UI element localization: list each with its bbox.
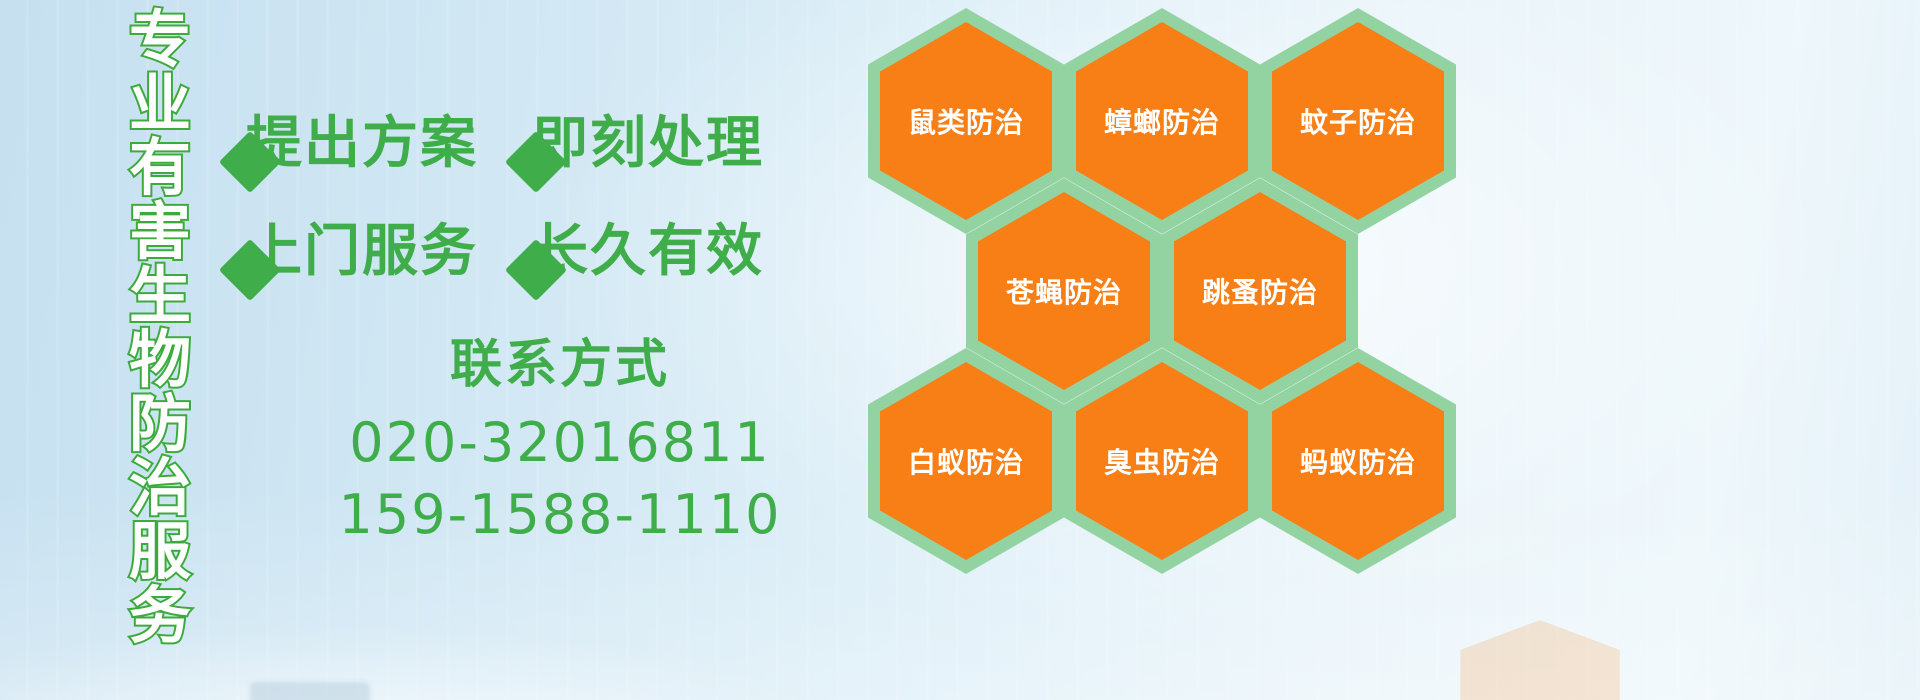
contact-phone-landline[interactable]: 020-32016811 bbox=[300, 407, 820, 479]
feature-label: 提出方案 bbox=[246, 98, 478, 179]
decorative-shape bbox=[250, 682, 370, 700]
service-hexagon-grid: 鼠类防治 蟑螂防治 蚊子防治 苍蝇防治 跳蚤防治 白蚁防治 bbox=[862, 2, 1462, 558]
hex-label: 跳蚤防治 bbox=[1202, 271, 1318, 311]
hex-label: 蚊子防治 bbox=[1300, 101, 1416, 141]
hex-label: 臭虫防治 bbox=[1104, 441, 1220, 481]
contact-phone-mobile[interactable]: 159-1588-1110 bbox=[300, 479, 820, 551]
hex-label: 苍蝇防治 bbox=[1006, 271, 1122, 311]
feature-label: 上门服务 bbox=[246, 206, 478, 287]
pest-control-banner: 专 业 有 害 生 物 防 治 服 务 提出方案 即刻处理 上门服务 bbox=[0, 0, 1920, 700]
vertical-title-char: 服 bbox=[129, 520, 191, 584]
hex-inner: 蚂蚁防治 bbox=[1272, 362, 1444, 560]
feature-item-propose-plan: 提出方案 bbox=[228, 98, 478, 179]
hex-inner: 鼠类防治 bbox=[880, 22, 1052, 220]
feature-item-immediate-treatment: 即刻处理 bbox=[514, 98, 764, 179]
vertical-title-char: 业 bbox=[129, 72, 191, 136]
hex-label: 蟑螂防治 bbox=[1104, 101, 1220, 141]
feature-list: 提出方案 即刻处理 上门服务 长久有效 bbox=[228, 84, 868, 300]
hex-inner: 蚊子防治 bbox=[1272, 22, 1444, 220]
hex-label: 蚂蚁防治 bbox=[1300, 441, 1416, 481]
vertical-title-char: 害 bbox=[129, 200, 191, 264]
vertical-title: 专 业 有 害 生 物 防 治 服 务 bbox=[108, 8, 212, 588]
hex-inner: 苍蝇防治 bbox=[978, 192, 1150, 390]
feature-item-long-lasting: 长久有效 bbox=[514, 206, 764, 287]
feature-row: 提出方案 即刻处理 bbox=[228, 84, 868, 192]
vertical-title-char: 防 bbox=[129, 392, 191, 456]
vertical-title-char: 生 bbox=[129, 264, 191, 328]
contact-block: 联系方式 020-32016811 159-1588-1110 bbox=[300, 322, 820, 551]
feature-label: 长久有效 bbox=[532, 206, 764, 287]
hex-inner: 跳蚤防治 bbox=[1174, 192, 1346, 390]
vertical-title-char: 治 bbox=[129, 456, 191, 520]
hex-inner: 白蚁防治 bbox=[880, 362, 1052, 560]
hex-label: 白蚁防治 bbox=[908, 441, 1024, 481]
vertical-title-char: 务 bbox=[129, 584, 191, 648]
vertical-title-char: 有 bbox=[129, 136, 191, 200]
vertical-title-char: 专 bbox=[129, 8, 191, 72]
contact-title: 联系方式 bbox=[300, 322, 820, 397]
feature-label: 即刻处理 bbox=[532, 98, 764, 179]
hex-inner: 蟑螂防治 bbox=[1076, 22, 1248, 220]
vertical-title-char: 物 bbox=[129, 328, 191, 392]
feature-item-onsite-service: 上门服务 bbox=[228, 206, 478, 287]
hex-label: 鼠类防治 bbox=[908, 101, 1024, 141]
decorative-hexagon bbox=[1460, 620, 1620, 700]
feature-row: 上门服务 长久有效 bbox=[228, 192, 868, 300]
hex-inner: 臭虫防治 bbox=[1076, 362, 1248, 560]
